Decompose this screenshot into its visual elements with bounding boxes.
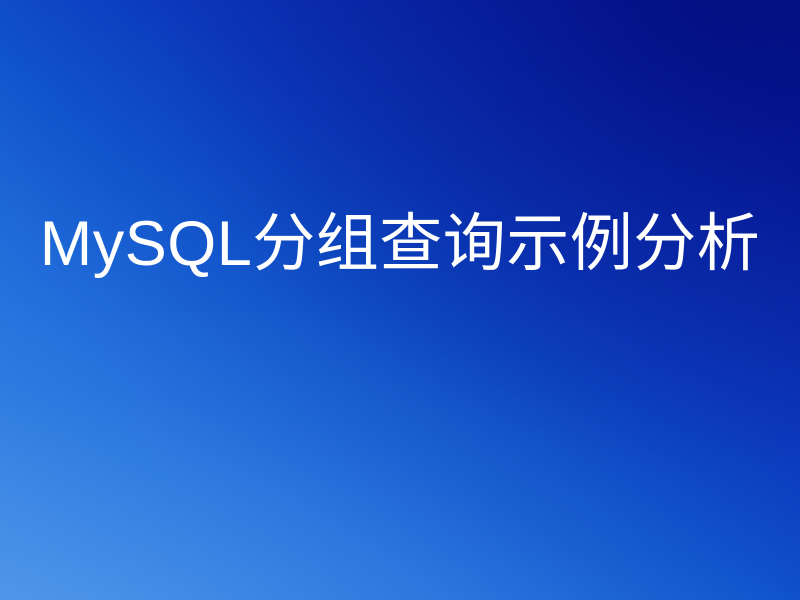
background-glow-overlay: [0, 312, 776, 600]
cover-canvas: MySQL分组查询示例分析: [0, 0, 800, 600]
cover-title: MySQL分组查询示例分析: [40, 0, 761, 276]
background-shade-overlay: [0, 0, 800, 600]
title-container: MySQL分组查询示例分析: [0, 0, 800, 600]
